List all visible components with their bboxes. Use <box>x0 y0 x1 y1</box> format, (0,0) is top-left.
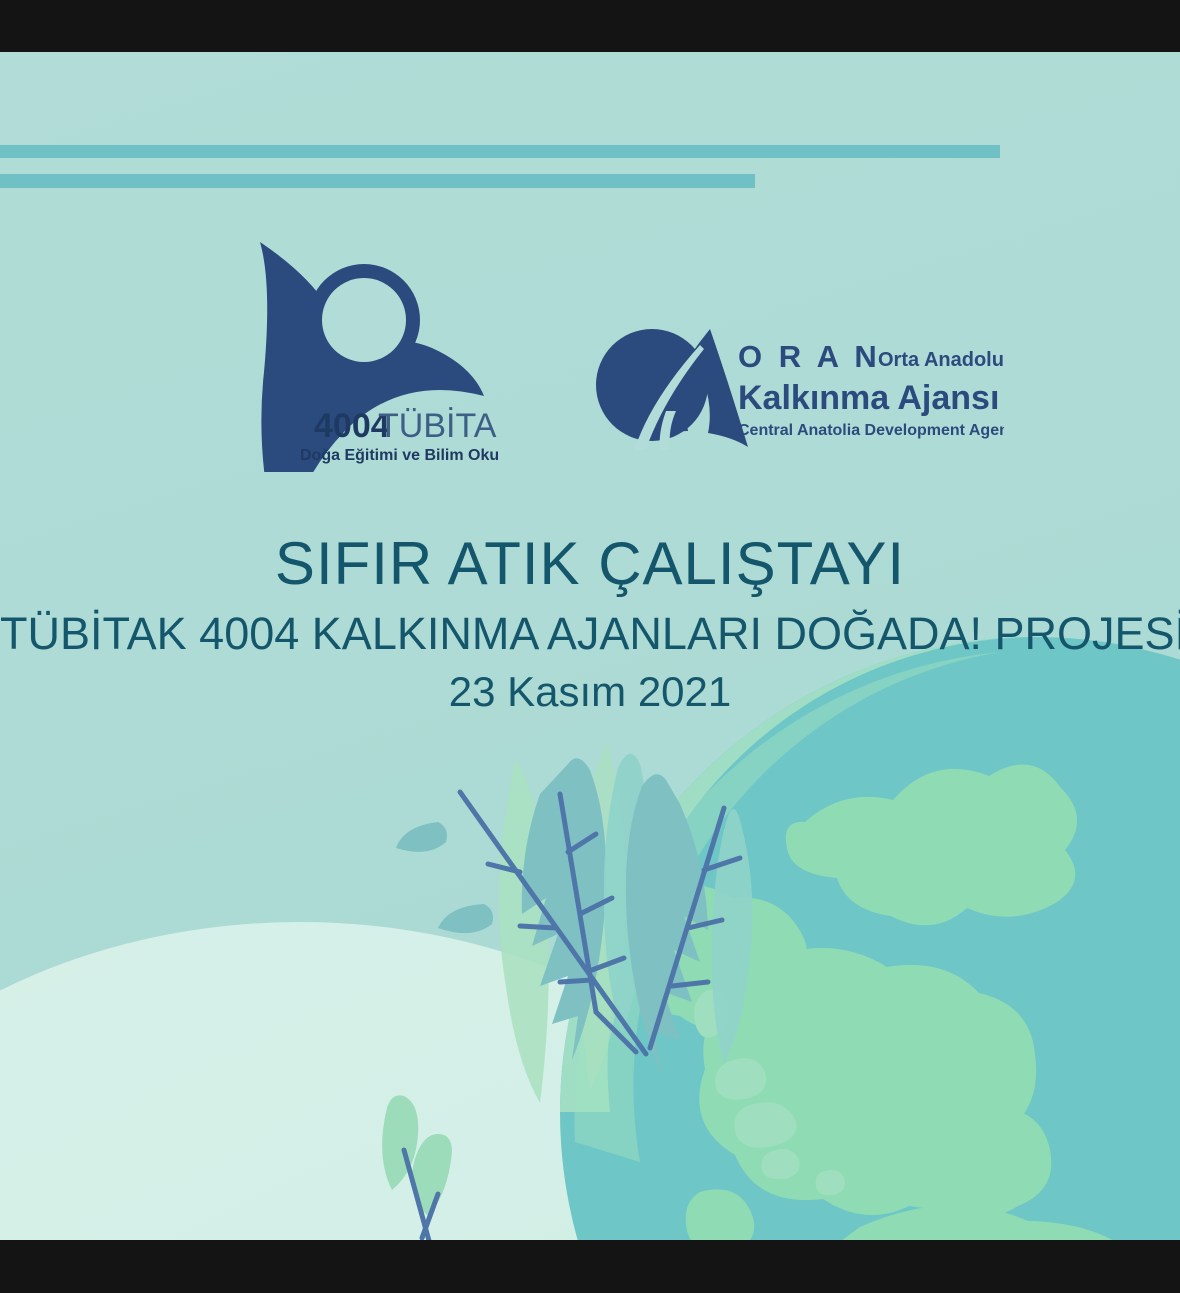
tubitak-logo-wordmark: TÜBİTAK <box>378 407 498 445</box>
slide-date: 23 Kasım 2021 <box>0 667 1180 717</box>
oran-line3: Central Anatolia Development Agency <box>738 422 1004 439</box>
oran-line2: Kalkınma Ajansı <box>738 379 999 417</box>
letterbox-bottom-bar <box>0 1240 1180 1293</box>
slide-frame: 4004 TÜBİTAK Doğa Eğitimi ve Bilim Okull… <box>0 0 1180 1293</box>
slide-subtitle: TÜBİTAK 4004 KALKINMA AJANLARI DOĞADA! P… <box>0 607 1180 661</box>
oran-logo: O R A N Orta Anadolu Kalkınma Ajansı Cen… <box>592 327 1004 452</box>
tubitak-4004-logo: 4004 TÜBİTAK Doğa Eğitimi ve Bilim Okull… <box>248 232 498 472</box>
slide-canvas: 4004 TÜBİTAK Doğa Eğitimi ve Bilim Okull… <box>0 52 1180 1240</box>
oran-acronym: O R A N <box>738 339 881 374</box>
top-accent-rule-short <box>0 174 755 188</box>
oran-logo-mark-icon: O R A N Orta Anadolu Kalkınma Ajansı Cen… <box>592 327 1004 452</box>
tubitak-logo-tagline: Doğa Eğitimi ve Bilim Okulları <box>300 447 498 464</box>
oran-acronym-suffix: Orta Anadolu <box>878 349 1004 371</box>
tubitak-logo-mark-icon: 4004 TÜBİTAK Doğa Eğitimi ve Bilim Okull… <box>248 232 498 472</box>
slide-title: SIFIR ATIK ÇALIŞTAYI <box>0 532 1180 597</box>
logo-row: 4004 TÜBİTAK Doğa Eğitimi ve Bilim Okull… <box>0 232 1180 482</box>
letterbox-top-bar <box>0 0 1180 52</box>
top-accent-rule-long <box>0 145 1000 158</box>
heading-block: SIFIR ATIK ÇALIŞTAYI TÜBİTAK 4004 KALKIN… <box>0 532 1180 717</box>
